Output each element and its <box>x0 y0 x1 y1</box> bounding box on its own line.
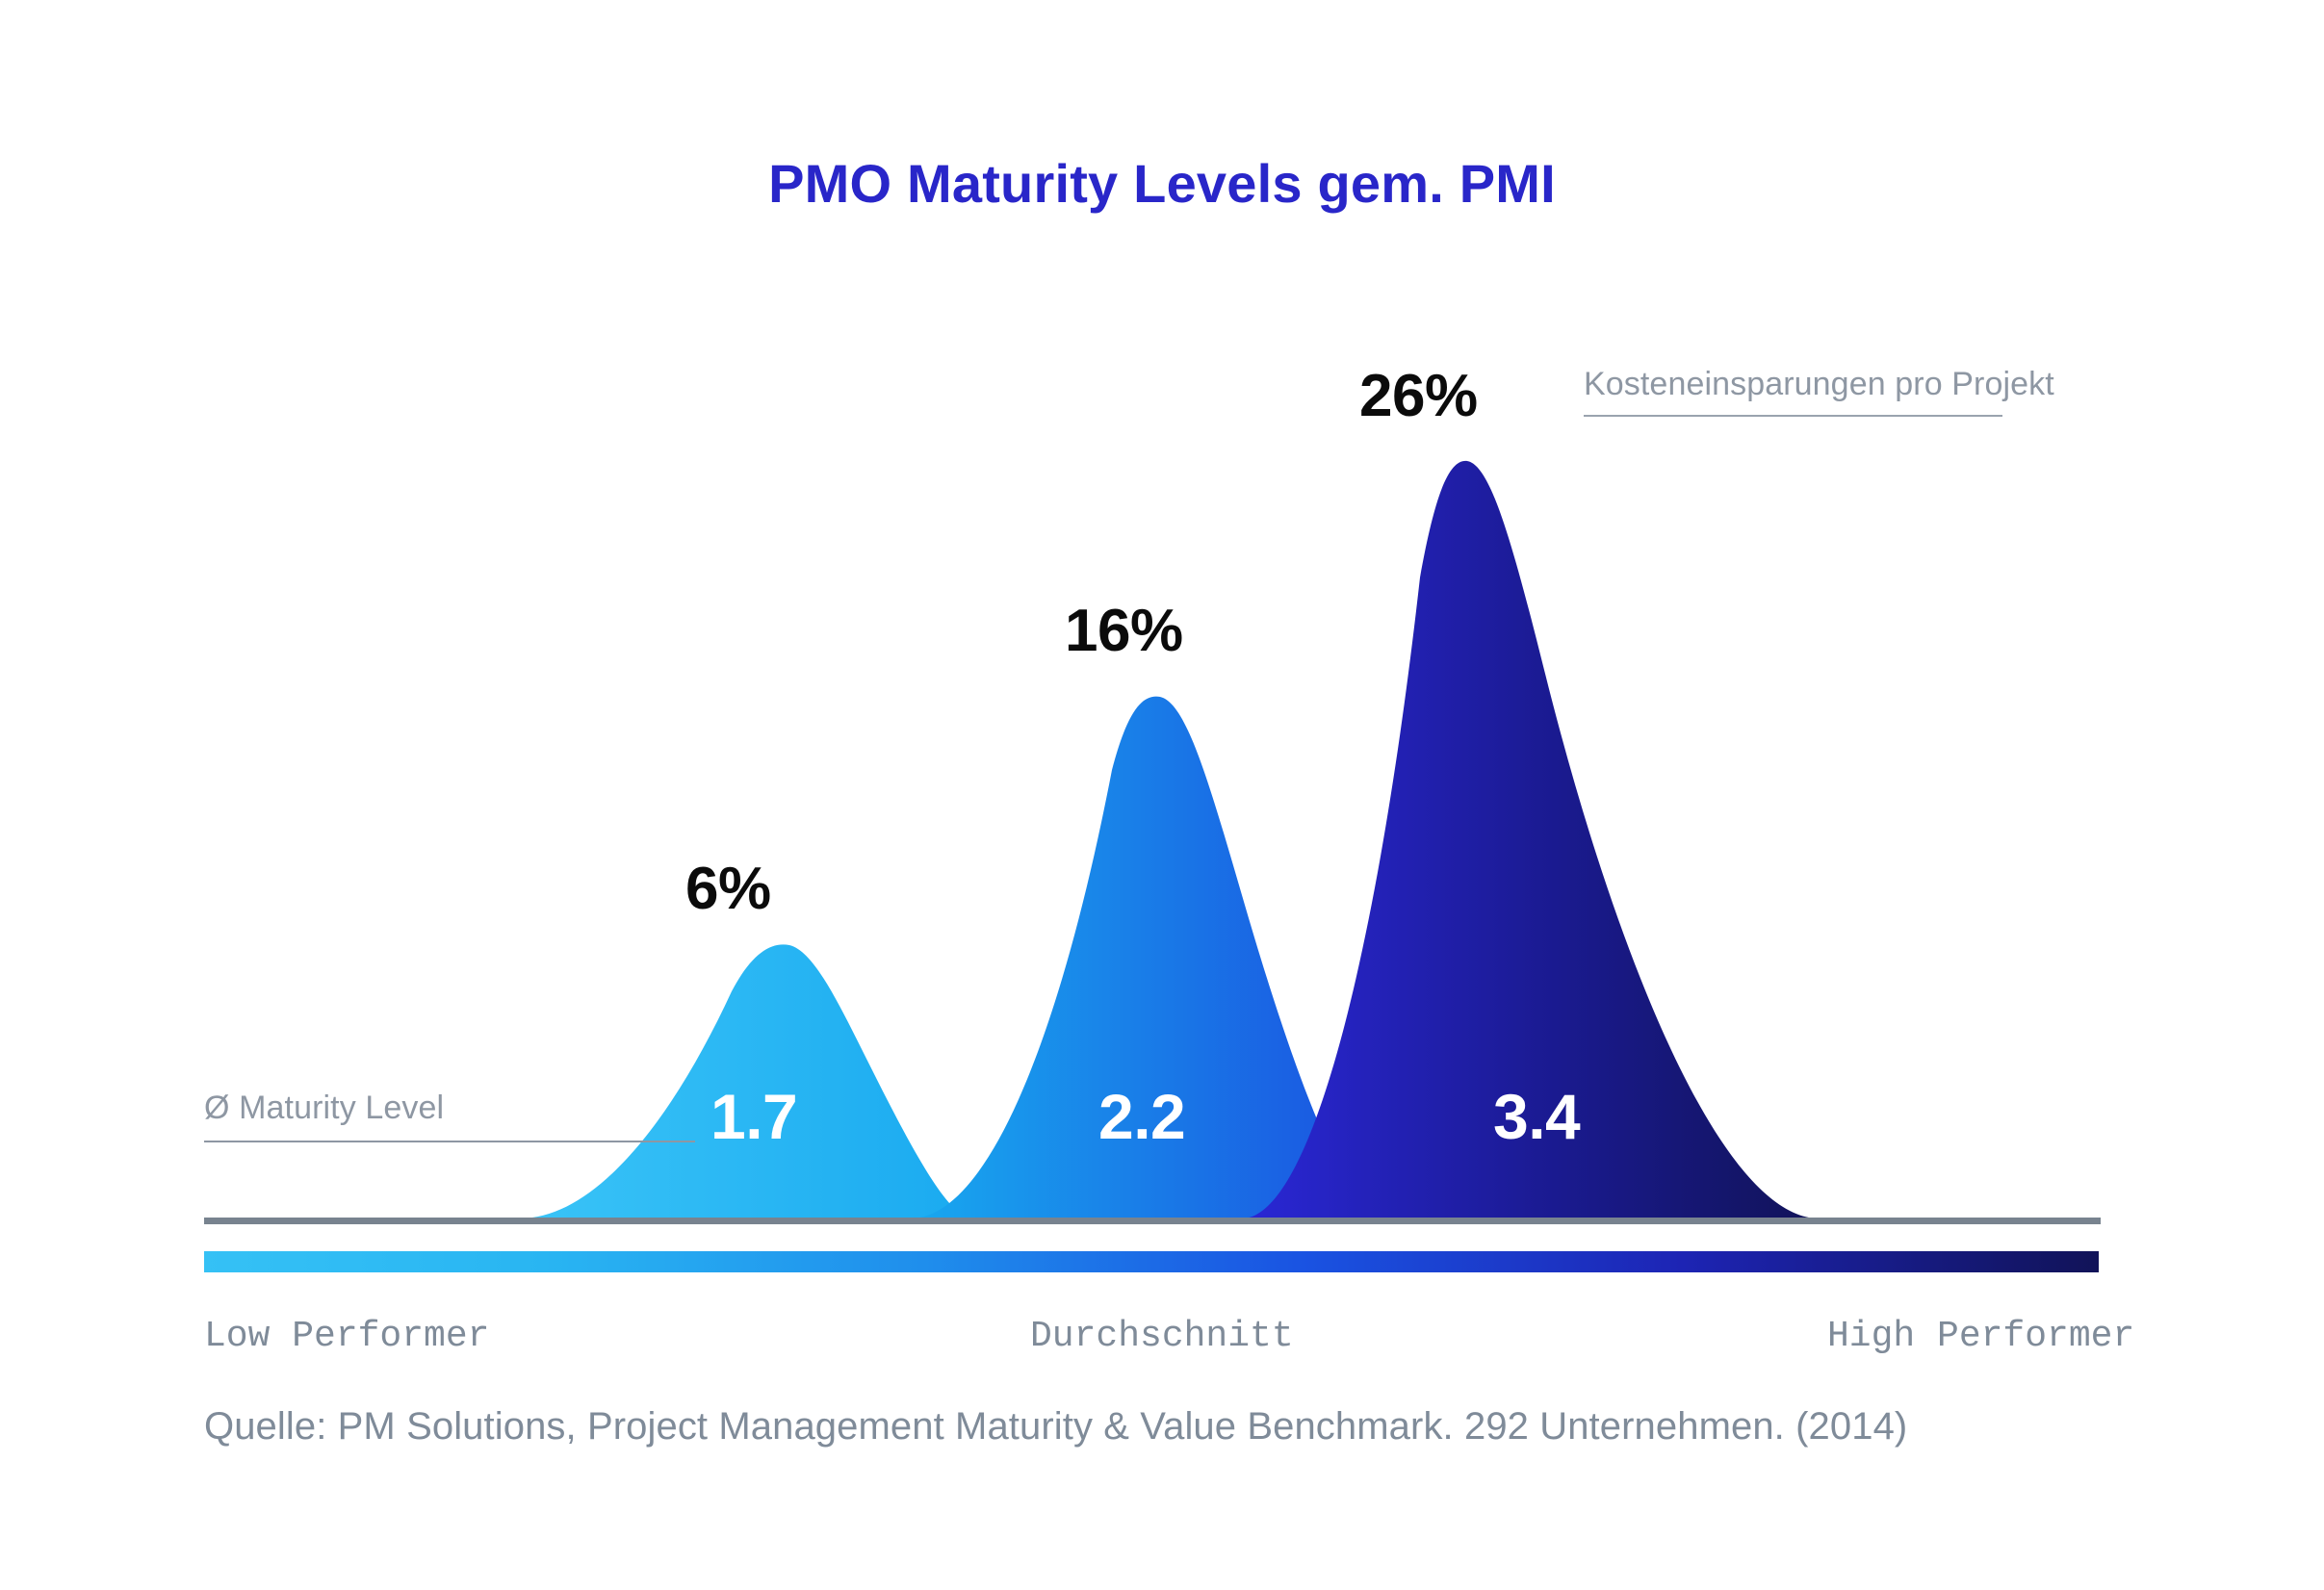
annotation-cost-savings-label: Kosteneinsparungen pro Projekt <box>1584 366 2108 403</box>
maturity-spectrum-bar <box>204 1251 2099 1272</box>
maturity-value-high-performer: 3.4 <box>1493 1080 1580 1153</box>
chart-canvas: PMO Maturity Levels gem. PMI 6% 16 <box>0 0 2324 1590</box>
axis-tick-low-performer: Low Performer <box>204 1316 489 1357</box>
percent-label-low-performer: 6% <box>685 855 771 923</box>
annotation-maturity-level-label: Ø Maturity Level <box>204 1090 743 1127</box>
axis-tick-durchschnitt: Durchschnitt <box>1030 1316 1294 1357</box>
source-note: Quelle: PM Solutions, Project Management… <box>204 1405 1907 1449</box>
maturity-value-durchschnitt: 2.2 <box>1098 1080 1185 1153</box>
annotation-cost-savings-rule <box>1584 415 2002 417</box>
percent-label-high-performer: 26% <box>1359 362 1478 430</box>
axis-tick-high-performer: High Performer <box>1827 1316 2134 1357</box>
percent-label-durchschnitt: 16% <box>1065 597 1183 665</box>
x-axis-line <box>204 1218 2101 1224</box>
annotation-cost-savings: Kosteneinsparungen pro Projekt <box>1584 366 2108 417</box>
annotation-maturity-level-rule <box>204 1141 695 1142</box>
annotation-maturity-level: Ø Maturity Level <box>204 1090 743 1142</box>
